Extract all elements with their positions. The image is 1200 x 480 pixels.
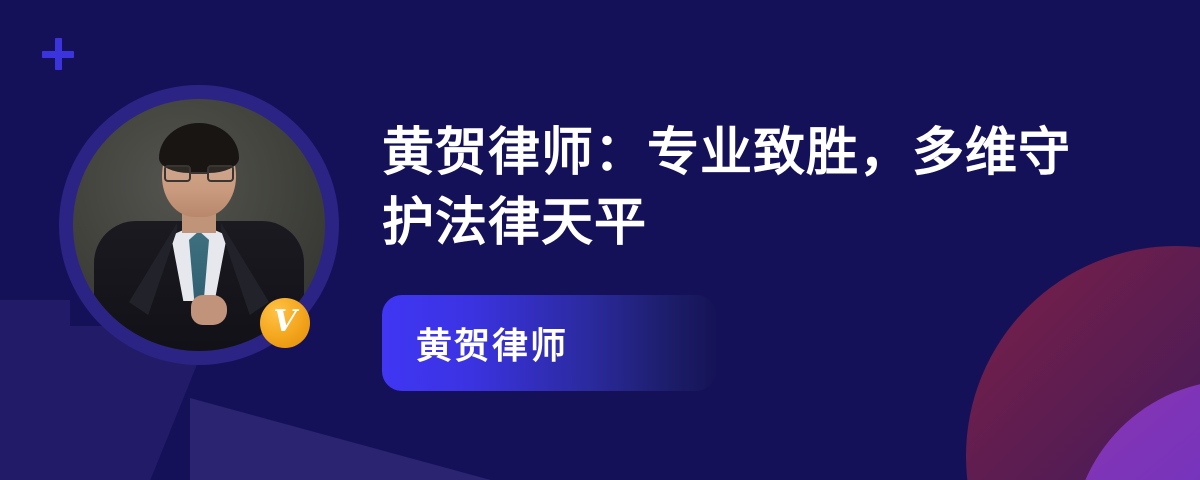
banner-content: 黄贺律师：专业致胜，多维守护法律天平 黄贺律师 (382, 0, 1122, 480)
glasses-lens-right (207, 165, 234, 182)
lawyer-name-button[interactable]: 黄贺律师 (382, 295, 716, 391)
lawyer-promo-banner: V 黄贺律师：专业致胜，多维守护法律天平 黄贺律师 (0, 0, 1200, 480)
portrait-glasses-icon (164, 165, 234, 182)
verified-badge: V (260, 298, 310, 348)
portrait-hand (191, 295, 227, 325)
glasses-bridge (191, 172, 207, 174)
verified-check-icon: V (273, 307, 296, 337)
page-title: 黄贺律师：专业致胜，多维守护法律天平 (382, 118, 1094, 258)
plus-icon (42, 38, 74, 70)
glasses-lens-left (164, 165, 191, 182)
